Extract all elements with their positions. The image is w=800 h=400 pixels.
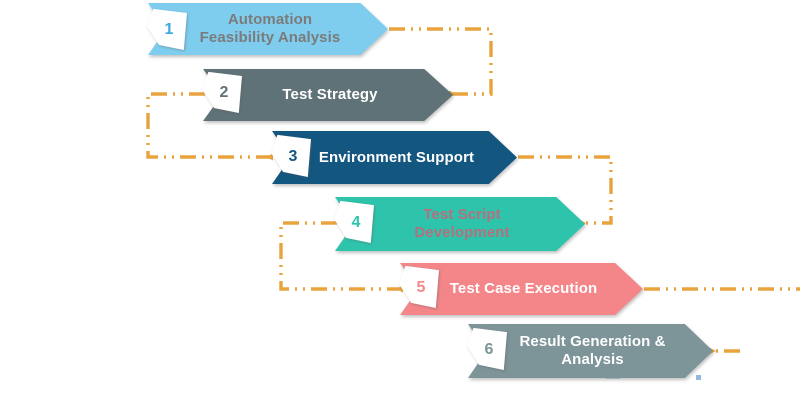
step-4-number-badge[interactable]: 4 [334,200,374,243]
badge-plate-5 [399,265,439,308]
badge-plate-1 [147,8,187,50]
badge-plate-4 [334,200,374,243]
flowchart-canvas: Automation Feasibility Analysis 1 Test S… [0,0,800,400]
step-3-number-badge[interactable]: 3 [271,134,311,177]
badge-plate-3 [271,134,311,177]
step-1-number-badge[interactable]: 1 [147,8,187,50]
step-5-number-badge[interactable]: 5 [399,265,439,308]
step-2-number-badge[interactable]: 2 [202,71,242,113]
badge-plate-6 [467,327,507,370]
badge-plate-2 [202,71,242,113]
step-6-number-badge[interactable]: 6 [467,327,507,370]
